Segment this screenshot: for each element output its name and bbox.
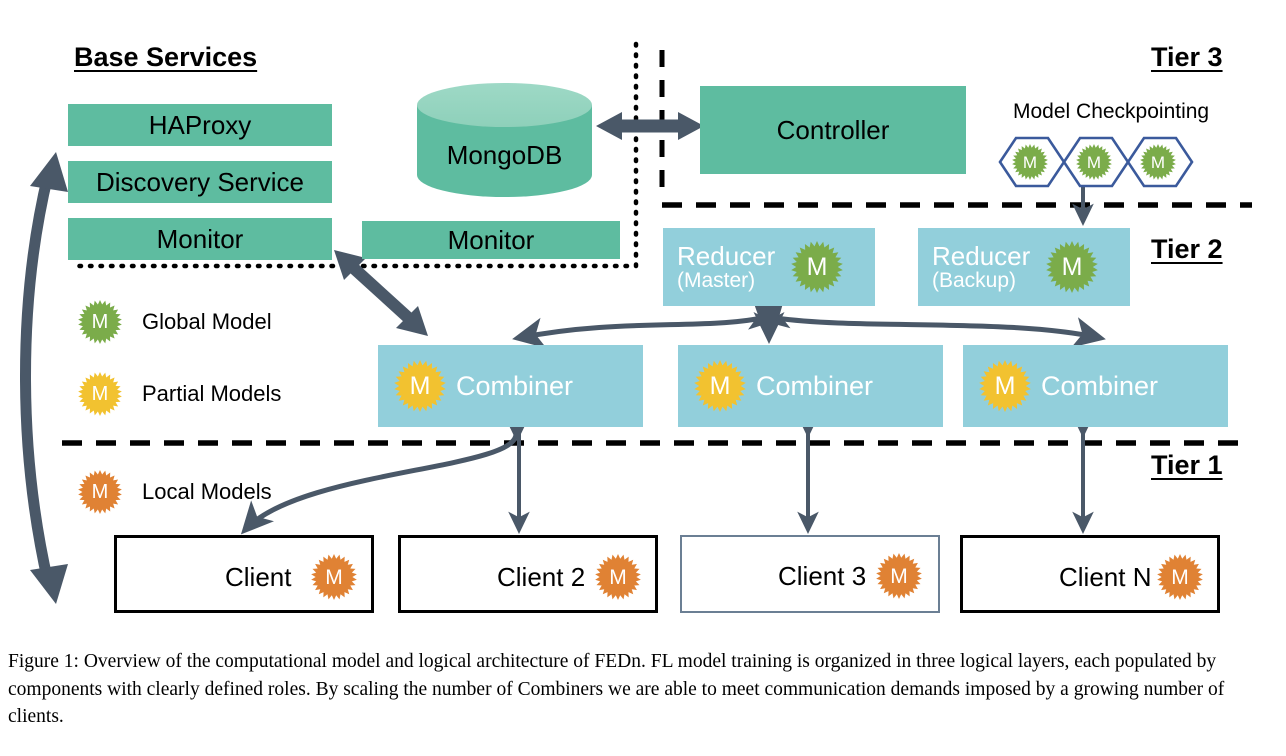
checkpoint-model-letter-3: M [1151,154,1165,171]
legend-local-models-label: Local Models [142,479,272,505]
combiner-1-model-badge: M [394,360,446,412]
box-haproxy[interactable]: HAProxy [68,104,332,146]
reducer-backup-title: Reducer [932,243,1030,270]
box-monitor-db[interactable]: Monitor [362,221,620,259]
checkpoint-model-letter-1: M [1023,154,1037,171]
reducer-master-subtitle: (Master) [677,270,775,291]
box-combiner-3-label: Combiner [1041,371,1158,402]
box-monitor-left-label: Monitor [157,224,244,255]
arrow-combiner1-client1 [245,434,516,530]
reducer-master-title: Reducer [677,243,775,270]
heading-tier-2: Tier 2 [1151,234,1223,265]
client-n-model-letter: M [1171,567,1189,588]
heading-tier-1: Tier 1 [1151,450,1223,481]
reducer-backup-subtitle: (Backup) [932,270,1030,291]
reducer-backup-model-badge: M [1046,241,1098,293]
box-combiner-2-label: Combiner [756,371,873,402]
box-monitor-db-label: Monitor [448,225,535,256]
box-client-n[interactable]: Client N M [960,535,1220,613]
label-model-checkpointing: Model Checkpointing [1013,100,1209,124]
client-n-model-badge: M [1157,554,1203,600]
checkpoint-model-badge-2: M [1076,144,1112,180]
checkpoint-model-badge-3: M [1140,144,1176,180]
client-1-model-badge: M [311,554,357,600]
legend-partial-models: M Partial Models [78,372,281,416]
box-discovery-service[interactable]: Discovery Service [68,161,332,203]
combiner-3-model-badge: M [979,360,1031,412]
box-combiner-1-label: Combiner [456,371,573,402]
legend-local-models-badge: M [78,470,122,514]
combiner-2-model-letter: M [710,374,731,399]
box-client-n-label: Client N [1059,562,1151,593]
box-client-1[interactable]: Client M [114,535,374,613]
combiner-2-model-badge: M [694,360,746,412]
reducer-master-model-badge: M [791,241,843,293]
legend-partial-models-letter: M [92,384,109,404]
reducer-master-text: Reducer (Master) [677,243,775,291]
legend-global-model: M Global Model [78,300,272,344]
arrow-reducer-combiners [518,318,1100,338]
client-3-model-badge: M [876,553,922,599]
box-reducer-backup[interactable]: Reducer (Backup) M [918,228,1130,306]
legend-global-model-label: Global Model [142,309,272,335]
box-client-2[interactable]: Client 2 M [398,535,658,613]
heading-tier-3: Tier 3 [1151,42,1223,73]
box-monitor-left[interactable]: Monitor [68,218,332,260]
client-3-model-letter: M [890,566,908,587]
reducer-master-model-letter: M [807,255,828,280]
box-combiner-2[interactable]: M Combiner [678,345,943,427]
box-client-2-label: Client 2 [497,562,585,593]
box-discovery-service-label: Discovery Service [96,167,304,198]
box-combiner-3[interactable]: M Combiner [963,345,1228,427]
box-haproxy-label: HAProxy [149,110,252,141]
box-client-3-label: Client 3 [778,561,866,592]
client-1-model-letter: M [325,567,343,588]
mongodb-label-wrap[interactable]: MongoDB [417,125,592,185]
figure-caption: Figure 1: Overview of the computational … [8,648,1278,731]
client-2-model-badge: M [595,554,641,600]
combiner-3-model-letter: M [995,374,1016,399]
client-2-model-letter: M [609,567,627,588]
combiner-1-model-letter: M [410,374,431,399]
box-controller-label: Controller [777,115,890,146]
arrow-discovery-clients [26,152,69,604]
legend-global-model-badge: M [78,300,122,344]
box-client-1-label: Client [225,562,291,593]
arrow-monitor-combiner [334,250,428,336]
heading-base-services: Base Services [74,42,257,73]
checkpoint-model-letter-2: M [1087,154,1101,171]
box-reducer-master[interactable]: Reducer (Master) M [663,228,875,306]
checkpoint-model-badge-1: M [1012,144,1048,180]
arrow-mongodb-controller [596,112,704,140]
legend-partial-models-label: Partial Models [142,381,281,407]
reducer-backup-model-letter: M [1062,255,1083,280]
box-combiner-1[interactable]: M Combiner [378,345,643,427]
architecture-diagram: Base Services Tier 3 Tier 2 Tier 1 Model… [0,0,1286,640]
mongodb-label: MongoDB [447,140,563,171]
legend-partial-models-badge: M [78,372,122,416]
box-controller[interactable]: Controller [700,86,966,174]
box-client-3[interactable]: Client 3 M [680,535,940,613]
legend-local-models: M Local Models [78,470,272,514]
reducer-backup-text: Reducer (Backup) [932,243,1030,291]
legend-global-model-letter: M [92,312,109,332]
legend-local-models-letter: M [92,482,109,502]
